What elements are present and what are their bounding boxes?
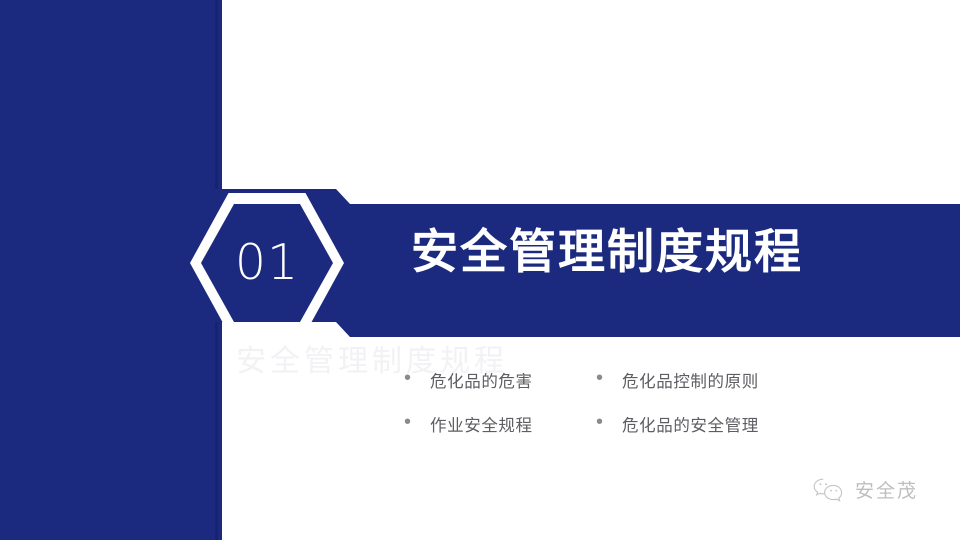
list-item-label: 危化品的危害 (430, 368, 533, 392)
list-item: • 危化品的危害 (404, 358, 596, 402)
list-item-label: 危化品控制的原则 (622, 368, 759, 392)
agenda-list: • 危化品的危害 • 危化品控制的原则 • 作业安全规程 • 危化品的安全管理 (404, 358, 824, 446)
watermark-logo: 安全茂 (812, 476, 918, 503)
list-item: • 危化品的安全管理 (596, 402, 824, 446)
slide-canvas: 安全管理制度规程 01 安全管理制度规程 • 危化品的危害 • 危化品控制的原则… (0, 0, 960, 540)
list-item-label: 作业安全规程 (430, 412, 533, 436)
section-number-badge: 01 (190, 193, 344, 333)
list-item: • 危化品控制的原则 (596, 358, 824, 402)
wechat-icon (812, 477, 846, 503)
bullet-dot-icon: • (404, 412, 411, 432)
section-title: 安全管理制度规程 (411, 228, 803, 277)
bullet-dot-icon: • (596, 412, 603, 432)
bullet-dot-icon: • (404, 368, 411, 388)
watermark-label: 安全茂 (855, 476, 918, 503)
section-number-label: 01 (190, 193, 344, 333)
list-item-label: 危化品的安全管理 (622, 412, 759, 436)
bullet-dot-icon: • (596, 368, 603, 388)
list-item: • 作业安全规程 (404, 402, 596, 446)
left-accent-band (0, 0, 222, 540)
